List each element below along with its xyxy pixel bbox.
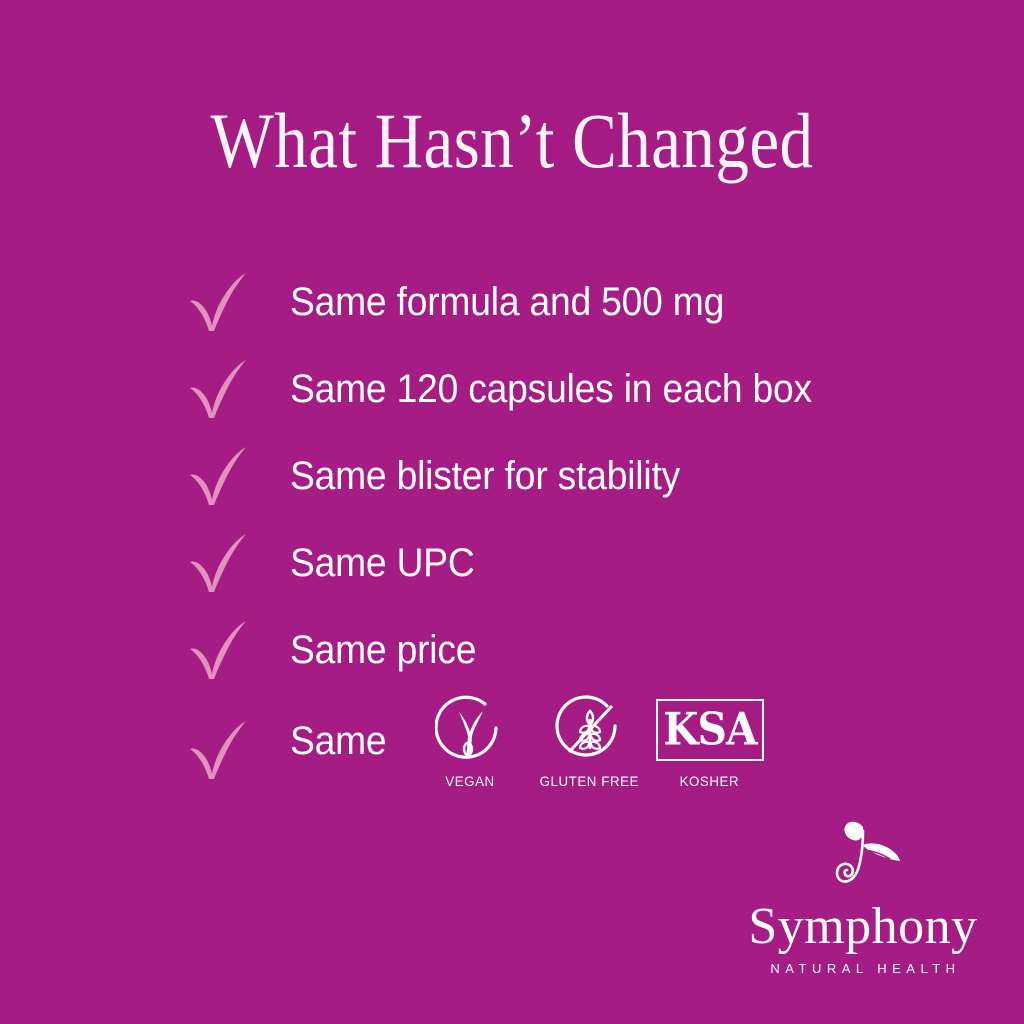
list-item: Same blister for stability (186, 432, 966, 519)
badge-vegan: VEGAN (420, 693, 520, 789)
list-item: Same UPC (186, 519, 966, 606)
symphony-leaf-mark-icon (748, 817, 978, 895)
ksa-text: KSA (663, 708, 757, 753)
certification-badges: VEGAN (420, 693, 760, 789)
vegan-icon (435, 693, 505, 767)
list-item: Same formula and 500 mg (186, 258, 966, 345)
gluten-free-icon (555, 693, 625, 767)
badge-label: VEGAN (445, 773, 494, 789)
kosher-box: KSA (656, 699, 764, 761)
promo-poster: What Hasn’t Changed Same formula and 500… (0, 0, 1024, 1024)
list-item: Same 120 capsules in each box (186, 345, 966, 432)
logo-tagline: NATURAL HEALTH (748, 961, 978, 976)
list-item-label: Same 120 capsules in each box (290, 367, 812, 411)
checkmark-icon (186, 445, 252, 507)
badge-label: KOSHER (680, 773, 740, 789)
checkmark-icon (186, 358, 252, 420)
kosher-ksa-icon: KSA (656, 693, 764, 767)
list-item-label: Same UPC (290, 541, 475, 585)
list-item-label: Same price (290, 628, 476, 672)
badge-kosher: KSA KOSHER (660, 693, 760, 789)
checklist: Same formula and 500 mg Same 120 capsule… (186, 258, 966, 811)
checkmark-icon (186, 719, 252, 781)
badge-gluten-free: GLUTEN FREE (540, 693, 640, 789)
list-item-label: Same (290, 719, 386, 763)
list-item-label: Same blister for stability (290, 454, 680, 498)
list-item-label: Same formula and 500 mg (290, 280, 724, 324)
checkmark-icon (186, 532, 252, 594)
list-item: Same price (186, 606, 966, 693)
logo-wordmark: Symphony (748, 899, 978, 955)
checkmark-icon (186, 271, 252, 333)
page-title: What Hasn’t Changed (72, 98, 953, 184)
badge-label: GLUTEN FREE (540, 773, 639, 789)
brand-logo: Symphony NATURAL HEALTH (748, 817, 978, 976)
certification-row: Same VEGAN (290, 693, 760, 789)
list-item-certifications: Same VEGAN (186, 693, 966, 811)
checkmark-icon (186, 619, 252, 681)
